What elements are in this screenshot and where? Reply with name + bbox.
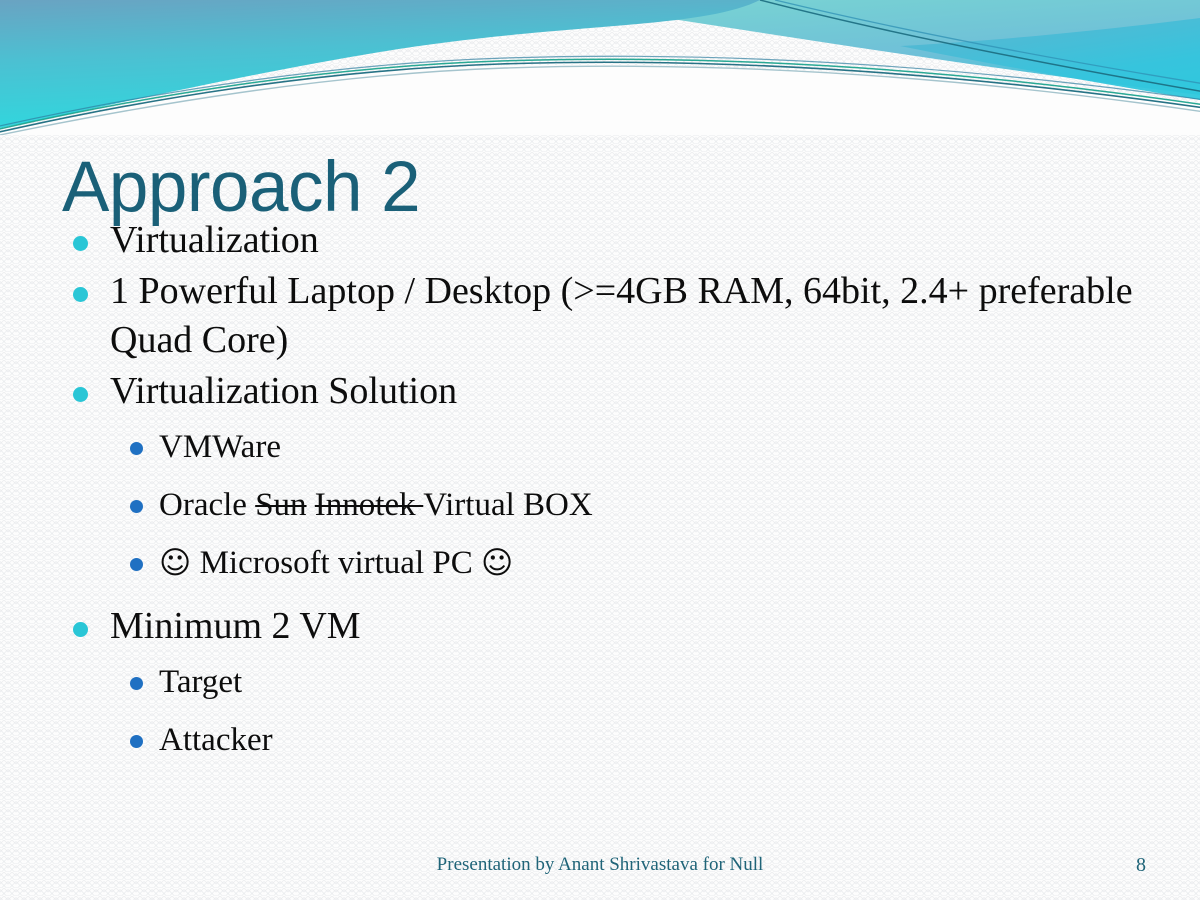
bullet-marker-level2 bbox=[130, 442, 143, 455]
bullet-marker-level2 bbox=[130, 735, 143, 748]
bullet-marker-level1 bbox=[73, 287, 88, 302]
list-item: Oracle Sun Innotek Virtual BOX bbox=[62, 476, 1162, 534]
list-item-label-suffix: Virtual BOX bbox=[423, 487, 592, 523]
list-item-label: Virtualization Solution bbox=[110, 370, 457, 412]
list-item: Minimum 2 VM bbox=[62, 602, 1162, 651]
list-item-label: VMWare bbox=[159, 429, 281, 465]
strikethrough-text-sun: Sun bbox=[255, 487, 306, 523]
bullet-marker-level2 bbox=[130, 500, 143, 513]
list-item-label-prefix: Oracle bbox=[159, 487, 255, 523]
smiley-face-icon: ☺ bbox=[159, 545, 191, 581]
page-number: 8 bbox=[1136, 854, 1146, 877]
header-wave-decoration bbox=[0, 0, 1200, 135]
list-item: Virtualization bbox=[62, 216, 1162, 265]
list-item: Attacker bbox=[62, 711, 1162, 769]
bullet-marker-level2 bbox=[130, 558, 143, 571]
list-item: Virtualization Solution bbox=[62, 367, 1162, 416]
footer-attribution-text: Presentation by Anant Shrivastava for Nu… bbox=[0, 854, 1200, 876]
list-item-label: Attacker bbox=[159, 722, 273, 758]
smiley-face-icon: ☺ bbox=[481, 545, 513, 581]
list-item: ☺ Microsoft virtual PC ☺ bbox=[62, 534, 1162, 592]
strikethrough-text-innotek: Innotek bbox=[315, 487, 423, 523]
bullet-marker-level1 bbox=[73, 387, 88, 402]
bullet-marker-level2 bbox=[130, 677, 143, 690]
list-item-label: Virtualization bbox=[110, 219, 319, 261]
slide-body-content: Virtualization 1 Powerful Laptop / Deskt… bbox=[62, 216, 1162, 769]
list-item-label: Microsoft virtual PC bbox=[191, 545, 481, 581]
bullet-marker-level1 bbox=[73, 622, 88, 637]
list-item: VMWare bbox=[62, 418, 1162, 476]
list-item-label: 1 Powerful Laptop / Desktop (>=4GB RAM, … bbox=[110, 270, 1133, 361]
list-item-label: Target bbox=[159, 664, 242, 700]
page-title: Approach 2 bbox=[62, 152, 420, 224]
slide-canvas: Approach 2 Virtualization 1 Powerful Lap… bbox=[0, 0, 1200, 900]
bullet-marker-level1 bbox=[73, 236, 88, 251]
list-item: Target bbox=[62, 653, 1162, 711]
list-item-label-separator bbox=[307, 487, 315, 523]
list-item-label: Minimum 2 VM bbox=[110, 605, 361, 647]
slide-footer: Presentation by Anant Shrivastava for Nu… bbox=[0, 854, 1200, 882]
list-item: 1 Powerful Laptop / Desktop (>=4GB RAM, … bbox=[62, 267, 1162, 365]
